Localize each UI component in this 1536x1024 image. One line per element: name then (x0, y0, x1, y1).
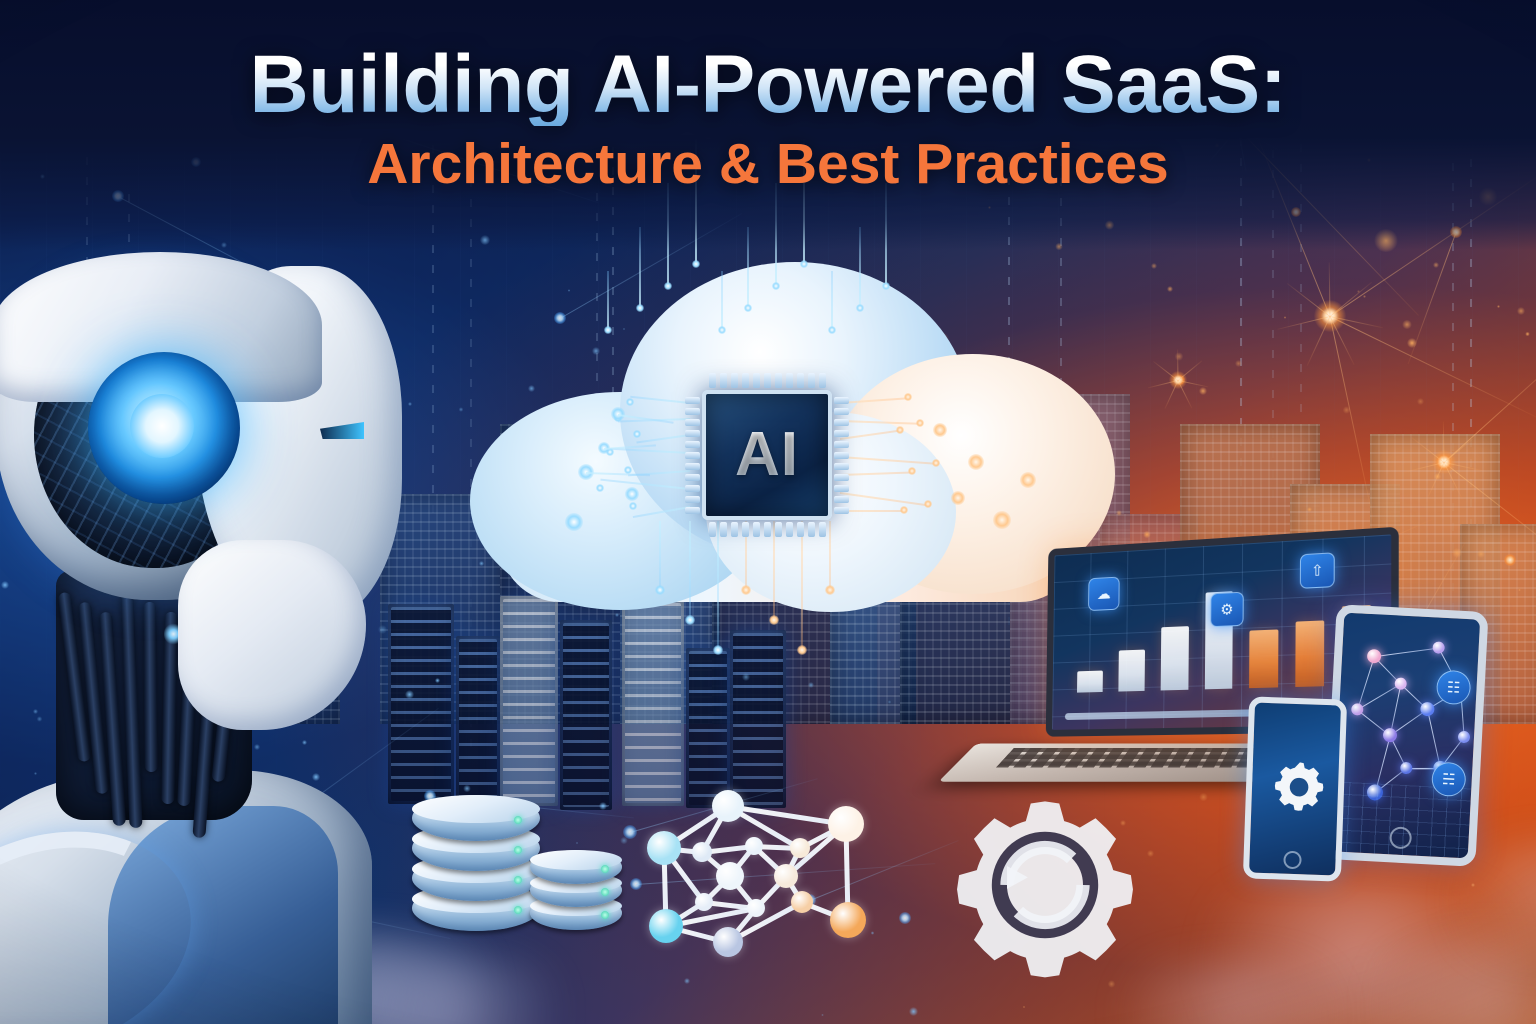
database-disc (530, 850, 622, 884)
page-subtitle: Architecture & Best Practices (0, 136, 1536, 193)
database-led (601, 911, 609, 919)
database-stack (412, 795, 540, 935)
database-led (514, 846, 522, 854)
hero-banner: AI ☁ ⚙ ⇧ ☷ ☵ (0, 0, 1536, 1024)
database-disc (412, 795, 540, 841)
page-title: Building AI-Powered SaaS: (0, 44, 1536, 126)
title-block: Building AI-Powered SaaS: Architecture &… (0, 44, 1536, 193)
database-led (514, 876, 522, 884)
database-led (601, 888, 609, 896)
database-led (514, 816, 522, 824)
database-led (601, 865, 609, 873)
database-led (514, 906, 522, 914)
